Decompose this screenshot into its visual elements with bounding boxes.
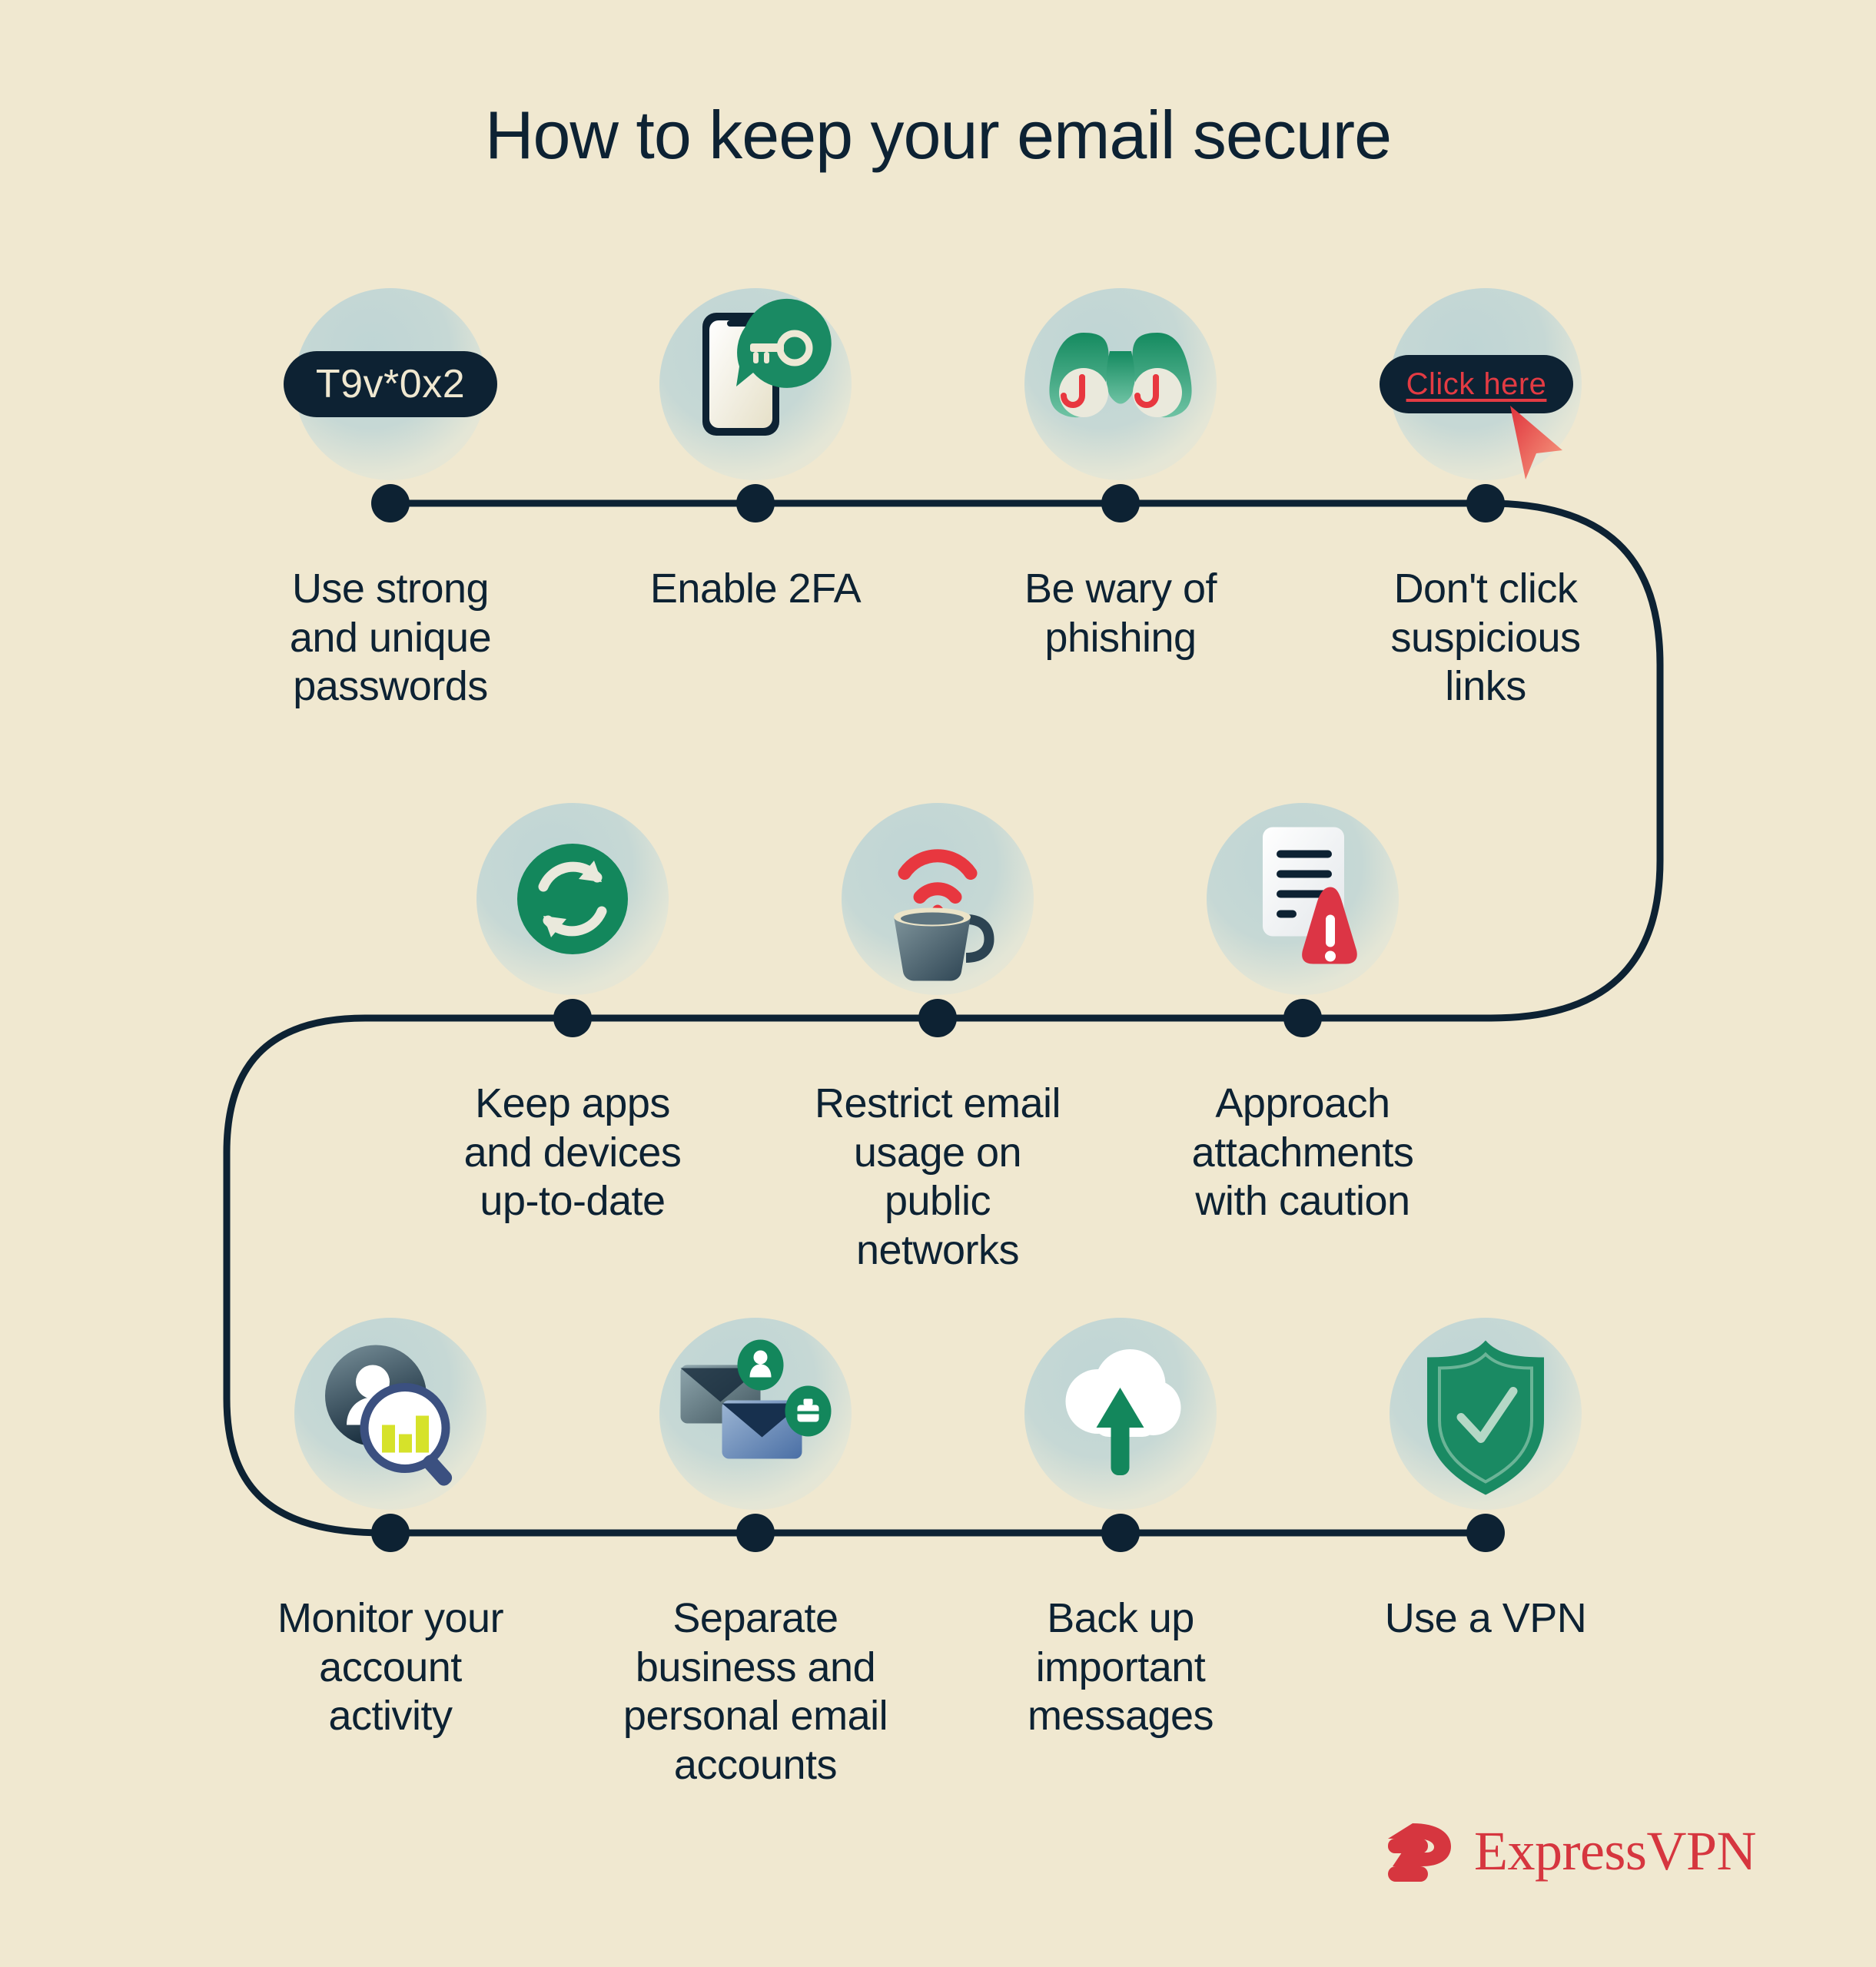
step-label: Enable 2FA [617,565,894,614]
step-icon-wrap [799,784,1076,1014]
step-icon-wrap [617,1299,894,1529]
step-label: Restrict email usage on public networks [799,1080,1076,1275]
step-icon-wrap [982,1299,1259,1529]
step-label: Use a VPN [1347,1594,1624,1644]
step-use-a-vpn[interactable]: Use a VPN [1347,1299,1624,1644]
cloud-upload-icon [1038,1337,1204,1491]
step-icon-wrap [1164,784,1441,1014]
step-label: Use strong and unique passwords [252,565,529,712]
step-separate-business-personal-email[interactable]: Separate business and personal email acc… [617,1299,894,1790]
shield-check-icon [1416,1332,1555,1497]
coffee-wifi-icon [849,817,1026,982]
document-warning-icon [1226,817,1380,982]
step-label: Monitor your account activity [252,1594,529,1741]
step-back-up-important-messages[interactable]: Back up important messages [982,1299,1259,1741]
envelopes-badges-icon [666,1332,846,1497]
step-label: Keep apps and devices up-to-date [434,1080,711,1226]
step-use-strong-passwords[interactable]: T9v*0x2 Use strong and unique passwords [252,269,529,712]
step-label: Separate business and personal email acc… [617,1594,894,1790]
binoculars-hook-icon [1036,311,1205,457]
refresh-circle-icon [503,830,642,968]
step-label: Be wary of phishing [982,565,1259,662]
step-label: Don't click suspicious links [1347,565,1624,712]
step-enable-2fa[interactable]: Enable 2FA [617,269,894,614]
step-icon-wrap [1347,1299,1624,1529]
step-icon-wrap [982,269,1259,499]
brand-logo[interactable]: ExpressVPN [1383,1819,1756,1883]
step-monitor-account-activity[interactable]: Monitor your account activity [252,1299,529,1741]
user-magnifier-chart-icon [302,1332,479,1497]
step-icon-wrap [617,269,894,499]
brand-name: ExpressVPN [1474,1819,1756,1883]
step-be-wary-of-phishing[interactable]: Be wary of phishing [982,269,1259,662]
step-label: Back up important messages [982,1594,1259,1741]
step-icon-wrap: T9v*0x2 [252,269,529,499]
step-dont-click-suspicious-links[interactable]: Click here Don't click suspicious links [1347,269,1624,712]
step-restrict-email-public-networks[interactable]: Restrict email usage on public networks [799,784,1076,1275]
step-label: Approach attachments with caution [1164,1080,1441,1226]
expressvpn-e-logo-icon [1383,1822,1457,1882]
infographic-root: How to keep your email secure T9v*0x2 [0,0,1876,1967]
password-pill-icon: T9v*0x2 [284,351,497,417]
step-icon-wrap [434,784,711,1014]
step-icon-wrap [252,1299,529,1529]
phone-key-bubble-icon [667,296,844,473]
step-approach-attachments-with-caution[interactable]: Approach attachments with caution [1164,784,1441,1226]
step-icon-wrap: Click here [1347,269,1624,499]
step-keep-apps-up-to-date[interactable]: Keep apps and devices up-to-date [434,784,711,1226]
page-title: How to keep your email secure [0,96,1876,174]
cursor-arrow-icon [1492,395,1584,495]
